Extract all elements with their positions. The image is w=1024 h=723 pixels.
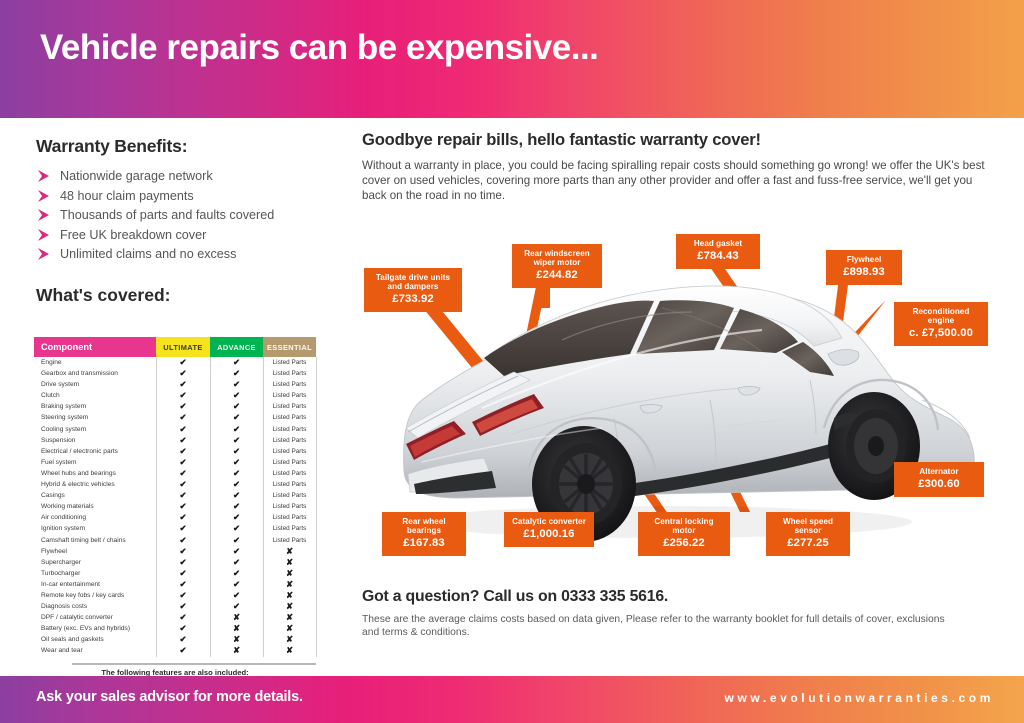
covered-title: What's covered:	[36, 285, 336, 306]
callout-label: Head gasket	[683, 239, 753, 248]
page-title: Vehicle repairs can be expensive...	[40, 28, 598, 68]
callout-alternator[interactable]: Alternator £300.60	[894, 462, 984, 497]
list-item: Unlimited claims and no excess	[36, 247, 336, 261]
table-row: Remote key fobs / key cards✔✔✘	[34, 590, 316, 601]
cell-ultimate: ✔	[156, 557, 210, 568]
list-item: Free UK breakdown cover	[36, 228, 336, 242]
cell-component: Electrical / electronic parts	[34, 446, 156, 457]
benefits-title: Warranty Benefits:	[36, 136, 336, 157]
table-row: Oil seals and gaskets✔✘✘	[34, 634, 316, 645]
cell-advance: ✔	[210, 523, 263, 534]
table-row: Electrical / electronic parts✔✔Listed Pa…	[34, 446, 316, 457]
callout-label: Wheel speed sensor	[773, 517, 843, 535]
table-row: Battery (exc. EVs and hybrids)✔✘✘	[34, 623, 316, 634]
column-header-advance: ADVANCE	[210, 337, 263, 357]
cell-ultimate: ✔	[156, 412, 210, 423]
cell-component: Camshaft timing belt / chains	[34, 535, 156, 546]
callout-central-locking-motor[interactable]: Central locking motor £256.22	[638, 512, 730, 556]
callout-flywheel[interactable]: Flywheel £898.93	[826, 250, 902, 285]
table-row: Suspension✔✔Listed Parts	[34, 435, 316, 446]
table-row: Gearbox and transmission✔✔Listed Parts	[34, 368, 316, 379]
callout-label: Reconditioned engine	[901, 307, 981, 325]
cell-component: Remote key fobs / key cards	[34, 590, 156, 601]
callout-label: Tailgate drive units and dampers	[371, 273, 455, 291]
chevron-right-icon	[36, 189, 56, 203]
list-item: Thousands of parts and faults covered	[36, 208, 336, 222]
cell-advance: ✔	[210, 601, 263, 612]
callout-price: c. £7,500.00	[901, 327, 981, 340]
chevron-right-icon	[36, 169, 56, 183]
cell-advance: ✔	[210, 590, 263, 601]
cell-essential: ✘	[263, 579, 316, 590]
callout-label: Alternator	[901, 467, 977, 476]
table-row: In-car entertainment✔✔✘	[34, 579, 316, 590]
cell-ultimate: ✔	[156, 623, 210, 634]
cell-advance: ✔	[210, 479, 263, 490]
table-row: Drive system✔✔Listed Parts	[34, 379, 316, 390]
cell-component: Gearbox and transmission	[34, 368, 156, 379]
cell-essential: ✘	[263, 568, 316, 579]
cell-ultimate: ✔	[156, 501, 210, 512]
cell-component: DPF / catalytic converter	[34, 612, 156, 623]
cell-advance: ✔	[210, 401, 263, 412]
callout-catalytic-converter[interactable]: Catalytic converter £1,000.16	[504, 512, 594, 547]
cell-advance: ✔	[210, 357, 263, 368]
callout-label: Flywheel	[833, 255, 895, 264]
table-row: Hybrid & electric vehicles✔✔Listed Parts	[34, 479, 316, 490]
cell-ultimate: ✔	[156, 590, 210, 601]
cell-ultimate: ✔	[156, 379, 210, 390]
callout-tailgate-drive-units[interactable]: Tailgate drive units and dampers £733.92	[364, 268, 462, 312]
cell-advance: ✔	[210, 390, 263, 401]
cell-component: Clutch	[34, 390, 156, 401]
cell-advance: ✔	[210, 579, 263, 590]
cell-essential: Listed Parts	[263, 479, 316, 490]
callout-label: Rear windscreen wiper motor	[519, 249, 595, 267]
cell-essential: Listed Parts	[263, 368, 316, 379]
cell-essential: Listed Parts	[263, 390, 316, 401]
cell-component: Battery (exc. EVs and hybrids)	[34, 623, 156, 634]
cell-essential: ✘	[263, 546, 316, 557]
cell-advance: ✔	[210, 557, 263, 568]
cell-component: Hybrid & electric vehicles	[34, 479, 156, 490]
table-row: Ignition system✔✔Listed Parts	[34, 523, 316, 534]
callout-label: Rear wheel bearings	[389, 517, 459, 535]
cell-component: Suspension	[34, 435, 156, 446]
vehicle-diagram: Tailgate drive units and dampers £733.92…	[362, 222, 1010, 572]
cell-advance: ✔	[210, 490, 263, 501]
cell-ultimate: ✔	[156, 612, 210, 623]
cell-ultimate: ✔	[156, 512, 210, 523]
list-item: 48 hour claim payments	[36, 189, 336, 203]
cell-essential: Listed Parts	[263, 535, 316, 546]
table-row: Supercharger✔✔✘	[34, 557, 316, 568]
cell-ultimate: ✔	[156, 546, 210, 557]
table-header-row: Component ULTIMATE ADVANCE ESSENTIAL	[34, 337, 316, 357]
cell-component: Ignition system	[34, 523, 156, 534]
cell-advance: ✔	[210, 424, 263, 435]
cell-essential: Listed Parts	[263, 501, 316, 512]
cell-advance: ✔	[210, 457, 263, 468]
brochure-page: Vehicle repairs can be expensive... Warr…	[0, 0, 1024, 723]
table-row: Clutch✔✔Listed Parts	[34, 390, 316, 401]
table-row: Wheel hubs and bearings✔✔Listed Parts	[34, 468, 316, 479]
footer-website[interactable]: www.evolutionwarranties.com	[725, 691, 994, 705]
cell-component: Wheel hubs and bearings	[34, 468, 156, 479]
cell-component: Supercharger	[34, 557, 156, 568]
coverage-table-body: Engine✔✔Listed PartsGearbox and transmis…	[34, 357, 316, 657]
column-header-ultimate: ULTIMATE	[156, 337, 210, 357]
cell-essential: Listed Parts	[263, 357, 316, 368]
cell-advance: ✔	[210, 568, 263, 579]
cell-advance: ✔	[210, 368, 263, 379]
cell-ultimate: ✔	[156, 424, 210, 435]
cell-essential: Listed Parts	[263, 424, 316, 435]
callout-price: £277.25	[773, 537, 843, 550]
cell-ultimate: ✔	[156, 390, 210, 401]
cell-component: Flywheel	[34, 546, 156, 557]
cell-component: Turbocharger	[34, 568, 156, 579]
cell-essential: ✘	[263, 590, 316, 601]
header-banner: Vehicle repairs can be expensive...	[0, 0, 1024, 118]
callout-label: Central locking motor	[645, 517, 723, 535]
cell-essential: Listed Parts	[263, 468, 316, 479]
coverage-table-wrapper: Component ULTIMATE ADVANCE ESSENTIAL Eng…	[34, 337, 316, 723]
cell-ultimate: ✔	[156, 435, 210, 446]
right-heading: Goodbye repair bills, hello fantastic wa…	[362, 130, 992, 150]
benefit-label: 48 hour claim payments	[60, 189, 194, 203]
callout-price: £244.82	[519, 269, 595, 282]
cell-advance: ✘	[210, 612, 263, 623]
callout-price: £256.22	[645, 537, 723, 550]
cell-advance: ✘	[210, 634, 263, 645]
right-column: Goodbye repair bills, hello fantastic wa…	[362, 130, 992, 203]
callout-rear-wheel-bearings[interactable]: Rear wheel bearings £167.83	[382, 512, 466, 556]
callout-head-gasket[interactable]: Head gasket £784.43	[676, 234, 760, 269]
callout-rear-windscreen-wiper-motor[interactable]: Rear windscreen wiper motor £244.82	[512, 244, 602, 288]
cell-advance: ✔	[210, 379, 263, 390]
cell-component: Oil seals and gaskets	[34, 634, 156, 645]
cell-component: Engine	[34, 357, 156, 368]
cell-essential: Listed Parts	[263, 401, 316, 412]
cell-advance: ✔	[210, 535, 263, 546]
cell-ultimate: ✔	[156, 568, 210, 579]
cell-essential: Listed Parts	[263, 457, 316, 468]
column-header-essential: ESSENTIAL	[263, 337, 316, 357]
chevron-right-icon	[36, 208, 56, 222]
cell-ultimate: ✔	[156, 368, 210, 379]
cell-ultimate: ✔	[156, 468, 210, 479]
table-row: Braking system✔✔Listed Parts	[34, 401, 316, 412]
cell-essential: Listed Parts	[263, 379, 316, 390]
cell-essential: Listed Parts	[263, 523, 316, 534]
cta-title: Got a question? Call us on 0333 335 5616…	[362, 588, 962, 606]
cta-block: Got a question? Call us on 0333 335 5616…	[362, 588, 962, 639]
cell-essential: ✘	[263, 557, 316, 568]
cell-essential: ✘	[263, 623, 316, 634]
cell-ultimate: ✔	[156, 446, 210, 457]
footer-message: Ask your sales advisor for more details.	[36, 689, 303, 705]
cell-component: Braking system	[34, 401, 156, 412]
right-body-text: Without a warranty in place, you could b…	[362, 158, 992, 203]
table-row: Air conditioning✔✔Listed Parts	[34, 512, 316, 523]
table-row: Diagnosis costs✔✔✘	[34, 601, 316, 612]
benefit-label: Free UK breakdown cover	[60, 228, 206, 242]
cell-ultimate: ✔	[156, 645, 210, 656]
callout-price: £167.83	[389, 537, 459, 550]
table-row: DPF / catalytic converter✔✘✘	[34, 612, 316, 623]
table-row: Wear and tear✔✘✘	[34, 645, 316, 656]
callout-wheel-speed-sensor[interactable]: Wheel speed sensor £277.25	[766, 512, 850, 556]
cell-essential: Listed Parts	[263, 446, 316, 457]
cell-advance: ✘	[210, 623, 263, 634]
coverage-table: Component ULTIMATE ADVANCE ESSENTIAL Eng…	[34, 337, 317, 657]
cell-ultimate: ✔	[156, 523, 210, 534]
table-row: Flywheel✔✔✘	[34, 546, 316, 557]
cell-component: Steering system	[34, 412, 156, 423]
benefit-label: Thousands of parts and faults covered	[60, 208, 274, 222]
callout-price: £784.43	[683, 250, 753, 263]
cell-ultimate: ✔	[156, 579, 210, 590]
cell-advance: ✔	[210, 412, 263, 423]
cell-advance: ✘	[210, 645, 263, 656]
callout-label: Catalytic converter	[511, 517, 587, 526]
cell-component: Fuel system	[34, 457, 156, 468]
cell-advance: ✔	[210, 546, 263, 557]
cell-advance: ✔	[210, 446, 263, 457]
benefit-label: Nationwide garage network	[60, 169, 213, 183]
cell-component: Wear and tear	[34, 645, 156, 656]
table-row: Camshaft timing belt / chains✔✔Listed Pa…	[34, 535, 316, 546]
cell-ultimate: ✔	[156, 490, 210, 501]
cell-component: Casings	[34, 490, 156, 501]
table-row: Cooling system✔✔Listed Parts	[34, 424, 316, 435]
cell-component: Working materials	[34, 501, 156, 512]
callout-price: £733.92	[371, 293, 455, 306]
cell-ultimate: ✔	[156, 457, 210, 468]
footer-banner: Ask your sales advisor for more details.…	[0, 676, 1024, 723]
cell-essential: Listed Parts	[263, 512, 316, 523]
table-row: Engine✔✔Listed Parts	[34, 357, 316, 368]
callout-price: £300.60	[901, 478, 977, 491]
cell-component: Air conditioning	[34, 512, 156, 523]
benefit-label: Unlimited claims and no excess	[60, 247, 236, 261]
cell-advance: ✔	[210, 512, 263, 523]
list-item: Nationwide garage network	[36, 169, 336, 183]
cell-ultimate: ✔	[156, 535, 210, 546]
column-header-component: Component	[34, 337, 156, 357]
cell-ultimate: ✔	[156, 401, 210, 412]
table-row: Steering system✔✔Listed Parts	[34, 412, 316, 423]
cell-advance: ✔	[210, 468, 263, 479]
cell-essential: ✘	[263, 612, 316, 623]
table-row: Casings✔✔Listed Parts	[34, 490, 316, 501]
cell-advance: ✔	[210, 435, 263, 446]
callout-price: £1,000.16	[511, 528, 587, 541]
cell-essential: ✘	[263, 601, 316, 612]
cell-ultimate: ✔	[156, 601, 210, 612]
cell-essential: Listed Parts	[263, 412, 316, 423]
cell-ultimate: ✔	[156, 357, 210, 368]
callout-price: £898.93	[833, 266, 895, 279]
cell-ultimate: ✔	[156, 634, 210, 645]
cell-essential: Listed Parts	[263, 435, 316, 446]
cell-component: Diagnosis costs	[34, 601, 156, 612]
benefits-list: Nationwide garage network 48 hour claim …	[36, 169, 336, 261]
cell-essential: ✘	[263, 645, 316, 656]
cell-component: Drive system	[34, 379, 156, 390]
table-row: Working materials✔✔Listed Parts	[34, 501, 316, 512]
cta-disclaimer: These are the average claims costs based…	[362, 613, 962, 639]
chevron-right-icon	[36, 247, 56, 261]
chevron-right-icon	[36, 228, 56, 242]
cell-advance: ✔	[210, 501, 263, 512]
cell-component: Cooling system	[34, 424, 156, 435]
left-column: Warranty Benefits: Nationwide garage net…	[36, 136, 336, 306]
cell-ultimate: ✔	[156, 479, 210, 490]
cell-component: In-car entertainment	[34, 579, 156, 590]
table-row: Turbocharger✔✔✘	[34, 568, 316, 579]
table-row: Fuel system✔✔Listed Parts	[34, 457, 316, 468]
callout-reconditioned-engine[interactable]: Reconditioned engine c. £7,500.00	[894, 302, 988, 346]
cell-essential: Listed Parts	[263, 490, 316, 501]
cell-essential: ✘	[263, 634, 316, 645]
